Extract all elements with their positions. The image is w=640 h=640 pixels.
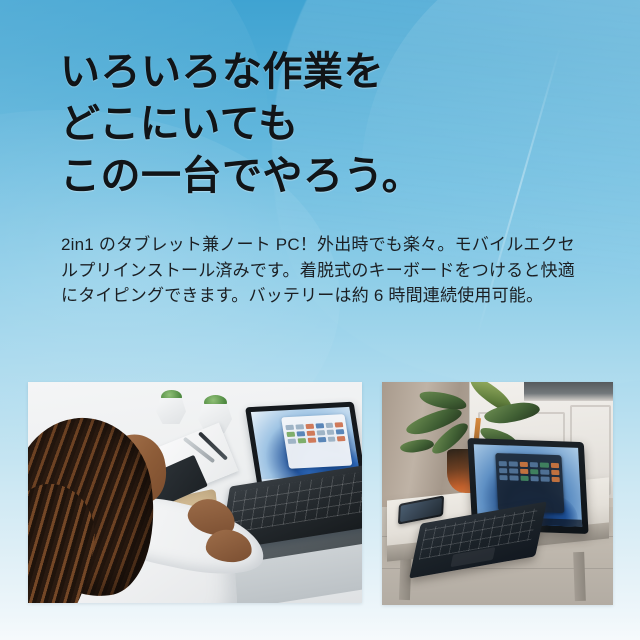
app-icon (520, 476, 529, 481)
app-icon (336, 429, 345, 434)
app-icon (540, 462, 549, 467)
app-icon (287, 432, 296, 437)
app-icon (296, 425, 305, 430)
app-icon (307, 431, 316, 436)
app-icon (499, 475, 508, 480)
app-icon (325, 423, 334, 428)
app-icon (315, 424, 324, 429)
app-icon (550, 463, 559, 468)
app-icon (305, 424, 314, 429)
photo-right (382, 382, 613, 605)
app-icon (519, 462, 528, 467)
app-icon (540, 469, 549, 474)
app-icon (335, 423, 344, 428)
photo-right-scene (382, 382, 613, 605)
app-icon (326, 430, 335, 435)
cabinet-top-shelf (524, 382, 613, 401)
app-icon (519, 469, 528, 474)
app-icon (316, 431, 325, 436)
app-icon (317, 437, 326, 442)
start-menu-app-grid (286, 423, 346, 445)
photo-row (0, 382, 640, 612)
body-description: 2in1 のタブレット兼ノート PC！外出時でも楽々。モバイルエクセルプリインス… (61, 232, 576, 309)
app-icon (541, 476, 550, 481)
app-icon (308, 438, 317, 443)
headline-line-2: どこにいても (60, 98, 580, 150)
app-icon (509, 475, 518, 480)
app-icon (509, 461, 518, 466)
app-icon (551, 470, 560, 475)
app-icon (337, 436, 346, 441)
app-icon (551, 477, 560, 482)
app-icon (288, 439, 297, 444)
table-leg (573, 551, 586, 600)
app-icon (499, 468, 508, 473)
windows-start-menu (282, 414, 353, 468)
headline: いろいろな作業を どこにいても この一台でやろう。 (60, 46, 580, 202)
app-icon (298, 438, 307, 443)
product-banner: いろいろな作業を どこにいても この一台でやろう。 2in1 のタブレット兼ノー… (0, 0, 640, 640)
photo-left (28, 382, 362, 603)
app-icon (530, 469, 539, 474)
app-icon (530, 476, 539, 481)
app-icon (286, 425, 295, 430)
app-icon (509, 468, 518, 473)
headline-line-1: いろいろな作業を (60, 46, 580, 98)
photo-left-scene (28, 382, 362, 603)
app-icon (498, 461, 507, 466)
start-menu-app-grid (498, 461, 560, 482)
app-icon (297, 432, 306, 437)
app-icon (530, 462, 539, 467)
headline-line-3: この一台でやろう。 (60, 150, 580, 202)
person (28, 418, 250, 603)
app-icon (327, 437, 336, 442)
